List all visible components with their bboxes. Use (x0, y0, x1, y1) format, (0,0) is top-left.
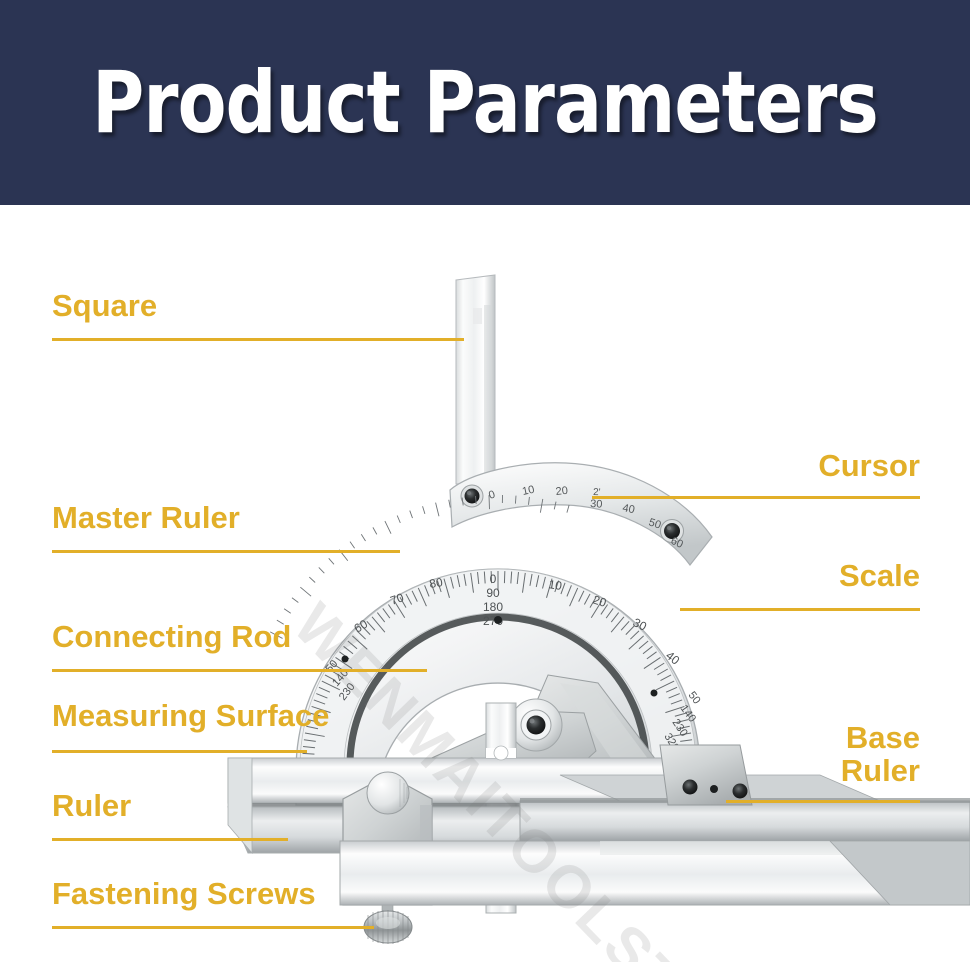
dial-index-hole-center (494, 616, 502, 624)
callout-connecting-rod: Connecting Rod (52, 621, 291, 654)
callout-scale: Scale (839, 560, 920, 593)
callout-square: Square (52, 290, 157, 323)
svg-text:40: 40 (621, 502, 635, 516)
leader-line-base-ruler (726, 800, 920, 803)
svg-text:180: 180 (483, 600, 503, 614)
svg-text:10: 10 (521, 484, 535, 498)
callout-label-square: Square (52, 290, 157, 323)
callout-label-cursor: Cursor (818, 450, 920, 483)
callout-label-connecting-rod: Connecting Rod (52, 621, 291, 654)
cursor-screw-left (461, 485, 483, 507)
callout-measuring-surface: Measuring Surface (52, 700, 329, 733)
leader-line-connecting-rod (52, 669, 427, 672)
page-header-banner: Product Parameters (0, 0, 970, 205)
clamp-round-head (367, 772, 409, 814)
svg-text:0: 0 (490, 572, 497, 586)
dial-index-hole-left (342, 656, 349, 663)
dial-base-foot (660, 745, 752, 805)
pivot-hub (510, 699, 562, 751)
page-title: Product Parameters (39, 0, 931, 205)
leader-line-master-ruler (52, 550, 400, 553)
callout-ruler: Ruler (52, 790, 131, 823)
callout-label-master-ruler: Master Ruler (52, 502, 240, 535)
callout-master-ruler: Master Ruler (52, 502, 240, 535)
callout-label-measuring-surface: Measuring Surface (52, 700, 329, 733)
dial-index-hole-right (651, 690, 658, 697)
leader-line-fastening-screws (52, 926, 374, 929)
leader-line-scale (680, 608, 920, 611)
square-blade (456, 275, 495, 485)
callout-label-base-ruler-line2: Ruler (841, 755, 920, 788)
leader-line-cursor (592, 496, 920, 499)
svg-text:20: 20 (555, 485, 568, 498)
leader-line-measuring-surface (52, 750, 307, 753)
callout-fastening-screws: Fastening Screws (52, 878, 316, 911)
base-screw-1 (683, 780, 698, 795)
svg-text:30: 30 (590, 498, 603, 511)
callout-label-base-ruler-line1: Base (841, 722, 920, 755)
callout-base-ruler: Base Ruler (841, 722, 920, 788)
svg-text:10: 10 (548, 577, 564, 593)
callout-label-scale: Scale (839, 560, 920, 593)
svg-text:80: 80 (428, 575, 444, 591)
callout-label-fastening-screws: Fastening Screws (52, 878, 316, 911)
callout-cursor: Cursor (818, 450, 920, 483)
leader-line-square (52, 338, 464, 341)
base-screw-3 (733, 784, 748, 799)
callout-label-ruler: Ruler (52, 790, 131, 823)
product-parameters-page: Product Parameters (0, 0, 970, 962)
base-screw-2 (710, 785, 718, 793)
svg-text:90: 90 (486, 586, 500, 600)
leader-line-ruler (52, 838, 288, 841)
